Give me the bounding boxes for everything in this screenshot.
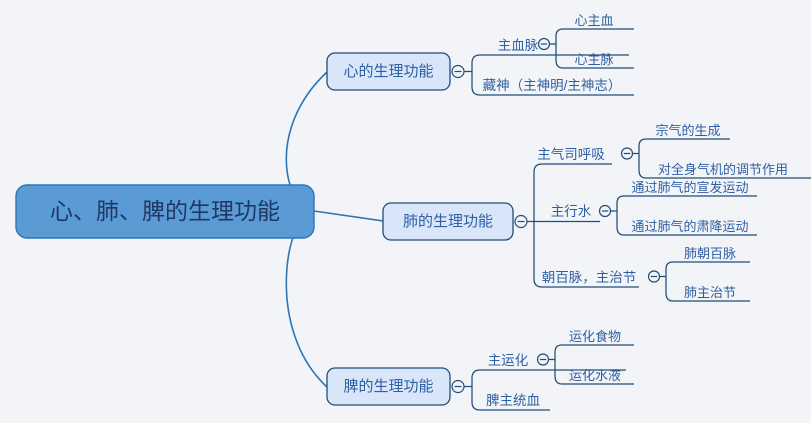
branch-heart-label: 心的生理功能 [343,63,433,80]
toggle-spleen-0-icon[interactable] [538,354,549,365]
root-node[interactable]: 心、肺、脾的生理功能 [16,185,314,238]
leaf-spleen-1-label: 脾主统血 [486,393,540,408]
leaf-lung-1-label: 主行水 [551,204,592,219]
root-node-label: 心、肺、脾的生理功能 [50,198,280,224]
toggle-spleen-icon[interactable] [452,381,464,393]
toggle-heart-icon[interactable] [452,66,464,78]
leaf-heart-1-label: 藏神（主神明/主神志） [483,78,622,93]
leaf-spleen-0-0-label: 运化食物 [569,329,621,344]
toggle-heart-0-icon[interactable] [539,39,550,50]
leaf-lung-2-0-label: 肺朝百脉 [684,246,736,261]
leaf-lung-2-1-label: 肺主治节 [684,285,736,300]
leaf-spleen-0-1-label: 运化水液 [569,368,621,383]
branch-lung[interactable]: 肺的生理功能 [383,203,513,240]
toggle-lung-icon[interactable] [515,216,527,228]
branch-spleen-label: 脾的生理功能 [343,378,433,395]
toggle-lung-0-icon[interactable] [622,148,633,159]
toggle-lung-1-icon[interactable] [600,206,611,217]
branch-lung-label: 肺的生理功能 [403,213,493,230]
mindmap-canvas: 心、肺、脾的生理功能 心的生理功能 主血脉 心主血 心主脉 藏神（主神明/主神志… [0,0,811,423]
branch-spleen[interactable]: 脾的生理功能 [327,368,450,405]
leaf-lung-0-1-label: 对全身气机的调节作用 [658,162,788,177]
leaf-lung-0-0-label: 宗气的生成 [655,123,720,138]
leaf-heart-0-label: 主血脉 [498,38,539,53]
branch-heart[interactable]: 心的生理功能 [327,53,450,90]
leaf-lung-2-label: 朝百脉，主治节 [542,270,637,285]
leaf-lung-1-1-label: 通过肺气的肃降运动 [631,219,748,234]
leaf-heart-0-0-label: 心主血 [574,13,613,28]
leaf-lung-0-label: 主气司呼吸 [537,147,605,162]
leaf-heart-0-1-label: 心主脉 [574,52,613,67]
leaf-lung-1-0-label: 通过肺气的宣发运动 [631,180,748,195]
toggle-lung-2-icon[interactable] [649,271,660,282]
leaf-spleen-0-label: 主运化 [488,353,529,368]
